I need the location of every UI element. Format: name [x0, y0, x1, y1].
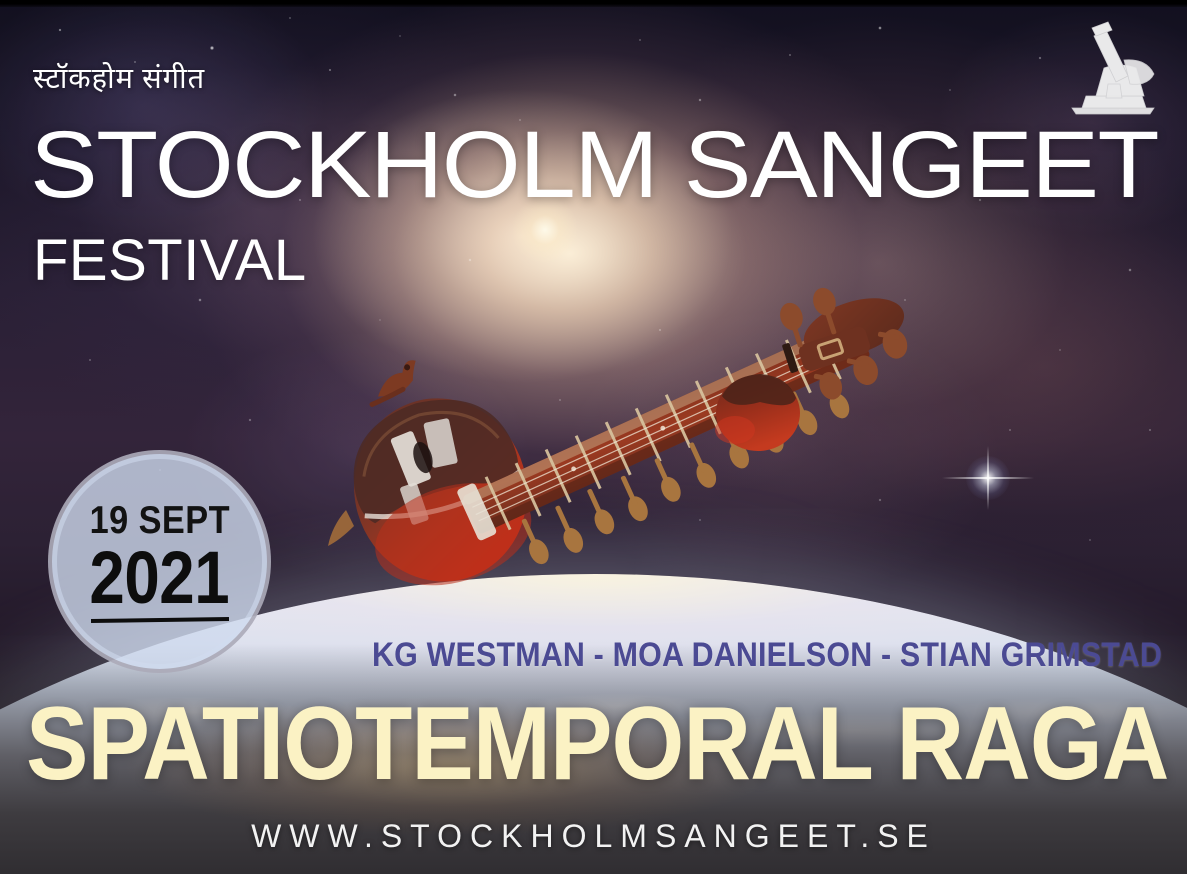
date-underline: [90, 617, 228, 623]
page-subtitle: FESTIVAL: [33, 232, 307, 290]
date-year: 2021: [90, 542, 230, 615]
top-black-strip: [0, 0, 1187, 7]
date-day-month: 19 SEPT: [89, 501, 229, 540]
performer-lineup: KG WESTMAN - MOA DANIELSON - STIAN GRIMS…: [372, 636, 1079, 675]
sitar-illustration: [280, 278, 920, 618]
website-url[interactable]: WWW.STOCKHOLMSANGEET.SE: [0, 818, 1187, 855]
devanagari-title: स्टॉकहोम संगीत: [33, 58, 205, 97]
event-headline: SPATIOTEMPORAL RAGA: [26, 692, 1052, 796]
date-badge: 19 SEPT 2021: [48, 450, 271, 673]
sitar-player-logo-icon: [1058, 18, 1168, 118]
page-title: STOCKHOLM SANGEET: [30, 118, 1158, 213]
event-poster: स्टॉकहोम संगीत STOCKHOLM SANGEET FESTIVA…: [0, 0, 1187, 874]
